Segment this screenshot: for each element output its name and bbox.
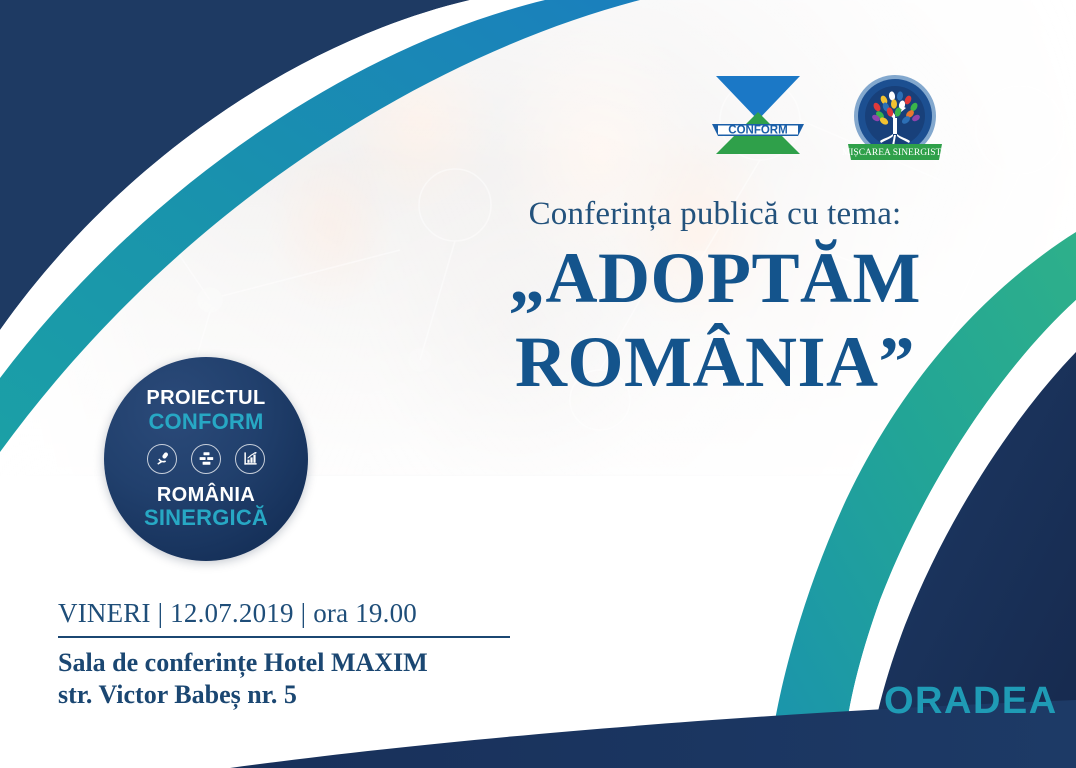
bar-chart-icon — [235, 444, 265, 474]
event-info: VINERI | 12.07.2019 | ora 19.00 Sala de … — [58, 598, 538, 710]
headline-block: Conferința publică cu tema: „ADOPTĂM ROM… — [455, 196, 975, 399]
event-venue: Sala de conferințe Hotel MAXIM — [58, 647, 538, 679]
headline-title-line2: ROMÂNIA” — [455, 326, 975, 399]
badge-line-romania: ROMÂNIA — [157, 484, 255, 506]
sinergista-logo-mark: MIȘCAREA SINERGISTĂ — [840, 74, 950, 166]
info-divider — [58, 636, 510, 638]
badge-line-sinergica: SINERGICĂ — [144, 506, 268, 531]
headline-subtitle: Conferința publică cu tema: — [455, 196, 975, 232]
conform-logo: CONFORM — [712, 74, 804, 156]
sinergista-logo: MIȘCAREA SINERGISTĂ — [840, 74, 950, 166]
logo-group: CONFORM — [712, 74, 950, 166]
conform-logo-mark: CONFORM — [712, 74, 804, 156]
conform-logo-text: CONFORM — [728, 124, 787, 136]
headline-title-line1: „ADOPTĂM — [455, 242, 975, 315]
city-label: ORADEA — [884, 680, 1058, 723]
event-datetime: VINERI | 12.07.2019 | ora 19.00 — [58, 598, 538, 629]
badge-line-conform: CONFORM — [148, 410, 263, 435]
structure-icon — [191, 444, 221, 474]
project-badge: PROIECTUL CONFORM — [104, 357, 308, 561]
sinergista-logo-text: MIȘCAREA SINERGISTĂ — [842, 146, 948, 158]
badge-line-proiectul: PROIECTUL — [146, 387, 265, 409]
badge-icon-row — [147, 444, 265, 474]
poster-root: CONFORM — [0, 0, 1076, 768]
microphone-icon — [147, 444, 177, 474]
event-address: str. Victor Babeș nr. 5 — [58, 679, 538, 711]
